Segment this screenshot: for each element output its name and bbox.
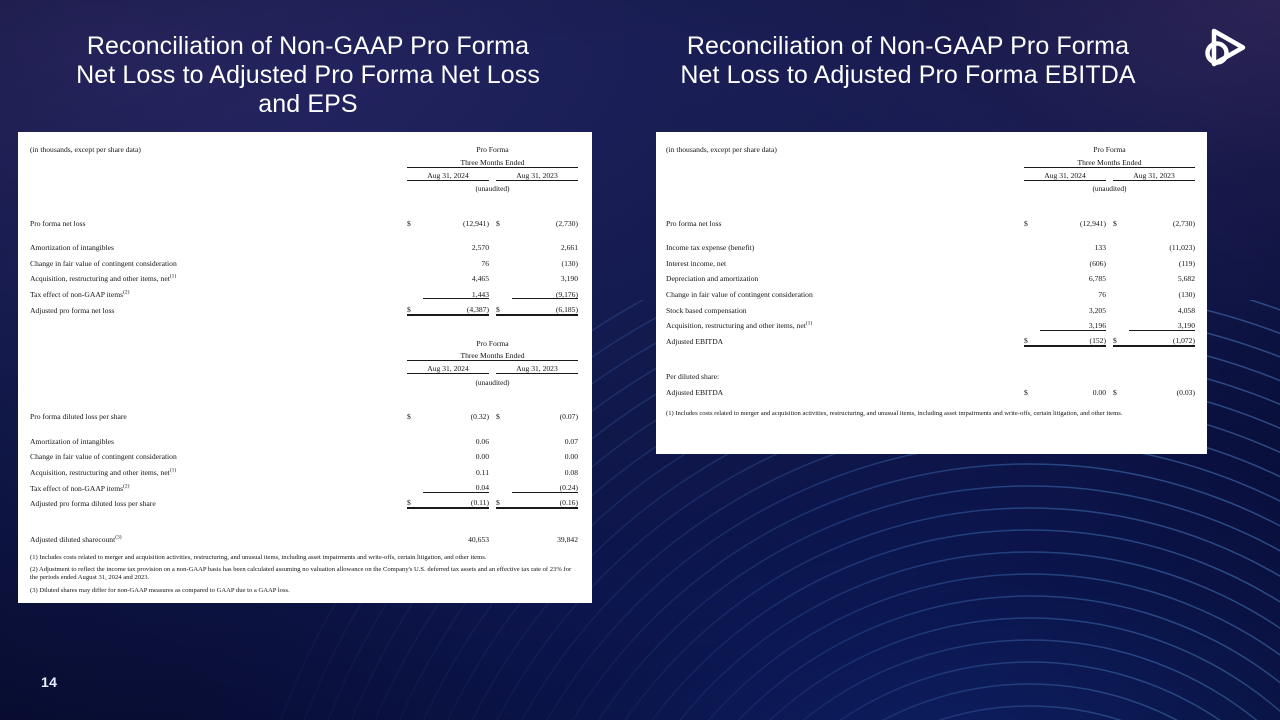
table-row: Tax effect of non-GAAP items(2) 0.04 (0.… [30, 477, 578, 493]
table-row: Change in fair value of contingent consi… [30, 446, 578, 462]
table-row: Tax effect of non-GAAP items(2) 1,443 (9… [30, 283, 578, 299]
row-value-2023: (11,023) [1129, 237, 1195, 253]
currency-symbol: $ [496, 299, 512, 315]
currency-symbol: $ [1113, 381, 1129, 397]
row-value-2024: 76 [423, 252, 489, 268]
row-label: Adjusted diluted sharecount [30, 535, 115, 544]
left-financial-table: (in thousands, except per share data) Pr… [30, 141, 578, 544]
right-financial-table: (in thousands, except per share data) Pr… [666, 141, 1195, 397]
currency-symbol: $ [496, 493, 512, 509]
right-footnotes: (1) Includes costs related to merger and… [666, 410, 1195, 418]
currency-symbol: $ [1113, 212, 1129, 228]
row-value-2024: 6,785 [1040, 268, 1106, 284]
table-row: Pro forma net loss $ (12,941) $ (2,730) [30, 212, 578, 228]
currency-symbol: $ [407, 299, 423, 315]
header-col-1: Aug 31, 2024 [407, 167, 489, 180]
table-row-total: Adjusted pro forma diluted loss per shar… [30, 493, 578, 509]
row-label: Adjusted EBITDA [666, 381, 1024, 397]
total-value-2023: (6,185) [512, 299, 578, 315]
total-value-2023: (0.16) [512, 493, 578, 509]
table-row: Aug 31, 2024 Aug 31, 2023 [30, 167, 578, 180]
row-value-2023: 0.00 [512, 446, 578, 462]
row-value-2024: (0.32) [423, 406, 489, 422]
footnote-3: (3) Diluted shares may differ for non-GA… [30, 587, 578, 595]
total-value-2024: (4,387) [423, 299, 489, 315]
row-value-2024: 133 [1040, 237, 1106, 253]
total-value-2024: (152) [1040, 330, 1106, 346]
row-value-2024: 1,443 [423, 283, 489, 299]
row-value-2024: 0.06 [423, 430, 489, 446]
units-note: (in thousands, except per share data) [30, 141, 407, 154]
table-row: Acquisition, restructuring and other ite… [30, 461, 578, 477]
table-row: Stock based compensation 3,205 4,058 [666, 299, 1195, 315]
table-row: Per diluted share: [666, 366, 1195, 382]
row-value-2023: (2,730) [1129, 212, 1195, 228]
header-group-label: Pro Forma [407, 141, 578, 154]
row-label: Interest income, net [666, 259, 726, 268]
table-row: Pro Forma [30, 335, 578, 348]
row-value-2024: 76 [1040, 283, 1106, 299]
row-label: Stock based compensation [666, 306, 747, 315]
footnote-2: (2) Adjustment to reflect the income tax… [30, 566, 578, 582]
footnote-marker: (1) [806, 321, 812, 327]
row-value-2023: (0.03) [1129, 381, 1195, 397]
header-period-label: Three Months Ended [1024, 154, 1195, 167]
row-label: Pro forma net loss [666, 212, 1024, 228]
footnote-marker: (1) [170, 274, 176, 280]
table-row: Three Months Ended [666, 154, 1195, 167]
table-row: Aug 31, 2024 Aug 31, 2023 [666, 167, 1195, 180]
row-label: Acquisition, restructuring and other ite… [30, 274, 170, 283]
footnote-1: (1) Includes costs related to merger and… [666, 410, 1195, 418]
table-row: Acquisition, restructuring and other ite… [666, 315, 1195, 331]
table-row: Pro forma diluted loss per share $ (0.32… [30, 406, 578, 422]
row-value-2023: 0.07 [512, 430, 578, 446]
row-value-2024: 4,465 [423, 268, 489, 284]
sharecount-2023: 39,842 [512, 528, 578, 544]
row-value-2023: (119) [1129, 252, 1195, 268]
footnote-marker: (1) [170, 467, 176, 473]
row-value-2024: (12,941) [1040, 212, 1106, 228]
table-row: (in thousands, except per share data) Pr… [666, 141, 1195, 154]
row-label: Acquisition, restructuring and other ite… [30, 468, 170, 477]
row-value-2024: 3,196 [1040, 315, 1106, 331]
units-note: (in thousands, except per share data) [666, 141, 1024, 154]
footnote-marker: (3) [115, 534, 121, 540]
right-slide-title: Reconciliation of Non-GAAP Pro Forma Net… [648, 32, 1168, 90]
row-value-2023: 3,190 [1129, 315, 1195, 331]
currency-symbol: $ [1113, 330, 1129, 346]
currency-symbol: $ [1024, 381, 1040, 397]
header-col-2: Aug 31, 2023 [1113, 167, 1195, 180]
total-value-2024: (0.11) [423, 493, 489, 509]
table-row: Adjusted EBITDA $ 0.00 $ (0.03) [666, 381, 1195, 397]
row-label: Pro forma net loss [30, 212, 407, 228]
row-value-2024: 2,570 [423, 237, 489, 253]
header-group-label: Pro Forma [1024, 141, 1195, 154]
sharecount-2024: 40,653 [423, 528, 489, 544]
table-row: Three Months Ended [30, 348, 578, 361]
table-row: (in thousands, except per share data) Pr… [30, 141, 578, 154]
company-logo-icon [1196, 24, 1252, 74]
table-row: Aug 31, 2024 Aug 31, 2023 [30, 361, 578, 374]
total-label: Adjusted pro forma net loss [30, 299, 407, 315]
total-label: Adjusted EBITDA [666, 330, 1024, 346]
header2-col-1: Aug 31, 2024 [407, 361, 489, 374]
table-row: Pro forma net loss $ (12,941) $ (2,730) [666, 212, 1195, 228]
header-col-1: Aug 31, 2024 [1024, 167, 1106, 180]
row-label: Tax effect of non-GAAP items [30, 484, 123, 493]
header2-group-label: Pro Forma [407, 335, 578, 348]
table-row: Depreciation and amortization 6,785 5,68… [666, 268, 1195, 284]
per-diluted-share-heading: Per diluted share: [666, 366, 1024, 382]
table-row: Amortization of intangibles 2,570 2,661 [30, 237, 578, 253]
row-label: Income tax expense (benefit) [666, 243, 754, 252]
table-row: Interest income, net (606) (119) [666, 252, 1195, 268]
currency-symbol: $ [496, 406, 512, 422]
currency-symbol: $ [496, 212, 512, 228]
header2-period-label: Three Months Ended [407, 348, 578, 361]
row-value-2023: (2,730) [512, 212, 578, 228]
header-unaudited: (unaudited) [1024, 180, 1195, 193]
header2-unaudited: (unaudited) [407, 374, 578, 387]
header-col-2: Aug 31, 2023 [496, 167, 578, 180]
row-value-2023: (0.24) [512, 477, 578, 493]
row-label: Change in fair value of contingent consi… [666, 290, 813, 299]
row-value-2023: (130) [1129, 283, 1195, 299]
currency-symbol: $ [1024, 330, 1040, 346]
table-row: Change in fair value of contingent consi… [30, 252, 578, 268]
table-row: Income tax expense (benefit) 133 (11,023… [666, 237, 1195, 253]
left-slide-title: Reconciliation of Non-GAAP Pro Forma Net… [28, 32, 588, 119]
row-value-2024: (12,941) [423, 212, 489, 228]
row-label: Acquisition, restructuring and other ite… [666, 321, 806, 330]
currency-symbol: $ [407, 406, 423, 422]
currency-symbol: $ [1024, 212, 1040, 228]
table-row-total: Adjusted EBITDA $ (152) $ (1,072) [666, 330, 1195, 346]
left-footnotes: (1) Includes costs related to merger and… [30, 554, 578, 595]
row-label: Depreciation and amortization [666, 274, 758, 283]
total-label: Adjusted pro forma diluted loss per shar… [30, 493, 407, 509]
row-value-2023: 2,661 [512, 237, 578, 253]
row-value-2023: (0.07) [512, 406, 578, 422]
row-value-2023: (130) [512, 252, 578, 268]
row-value-2024: 0.04 [423, 477, 489, 493]
table-row: Amortization of intangibles 0.06 0.07 [30, 430, 578, 446]
row-label: Change in fair value of contingent consi… [30, 452, 177, 461]
table-row: (unaudited) [30, 180, 578, 193]
row-value-2023: 5,682 [1129, 268, 1195, 284]
row-label: Pro forma diluted loss per share [30, 406, 407, 422]
header2-col-2: Aug 31, 2023 [496, 361, 578, 374]
footnote-1: (1) Includes costs related to merger and… [30, 554, 578, 562]
footnote-marker: (2) [123, 483, 129, 489]
row-value-2023: (9,176) [512, 283, 578, 299]
table-row: (unaudited) [30, 374, 578, 387]
slide: Reconciliation of Non-GAAP Pro Forma Net… [0, 0, 1280, 720]
row-label: Tax effect of non-GAAP items [30, 290, 123, 299]
table-row: Acquisition, restructuring and other ite… [30, 268, 578, 284]
footnote-marker: (2) [123, 289, 129, 295]
row-value-2024: 0.00 [1040, 381, 1106, 397]
currency-symbol: $ [407, 212, 423, 228]
row-value-2023: 0.08 [512, 461, 578, 477]
header-period-label: Three Months Ended [407, 154, 578, 167]
table-row: Adjusted diluted sharecount(3) 40,653 39… [30, 528, 578, 544]
row-label: Change in fair value of contingent consi… [30, 259, 177, 268]
row-value-2024: (606) [1040, 252, 1106, 268]
row-value-2023: 4,058 [1129, 299, 1195, 315]
row-value-2024: 3,205 [1040, 299, 1106, 315]
row-value-2023: 3,190 [512, 268, 578, 284]
table-row: Change in fair value of contingent consi… [666, 283, 1195, 299]
row-label: Amortization of intangibles [30, 243, 114, 252]
row-value-2024: 0.00 [423, 446, 489, 462]
left-table-panel: (in thousands, except per share data) Pr… [18, 132, 592, 603]
table-row-total: Adjusted pro forma net loss $ (4,387) $ … [30, 299, 578, 315]
currency-symbol: $ [407, 493, 423, 509]
header-unaudited: (unaudited) [407, 180, 578, 193]
table-row: Three Months Ended [30, 154, 578, 167]
total-value-2023: (1,072) [1129, 330, 1195, 346]
row-label: Amortization of intangibles [30, 437, 114, 446]
page-number: 14 [41, 674, 57, 690]
right-table-panel: (in thousands, except per share data) Pr… [656, 132, 1207, 454]
row-value-2024: 0.11 [423, 461, 489, 477]
table-row: (unaudited) [666, 180, 1195, 193]
